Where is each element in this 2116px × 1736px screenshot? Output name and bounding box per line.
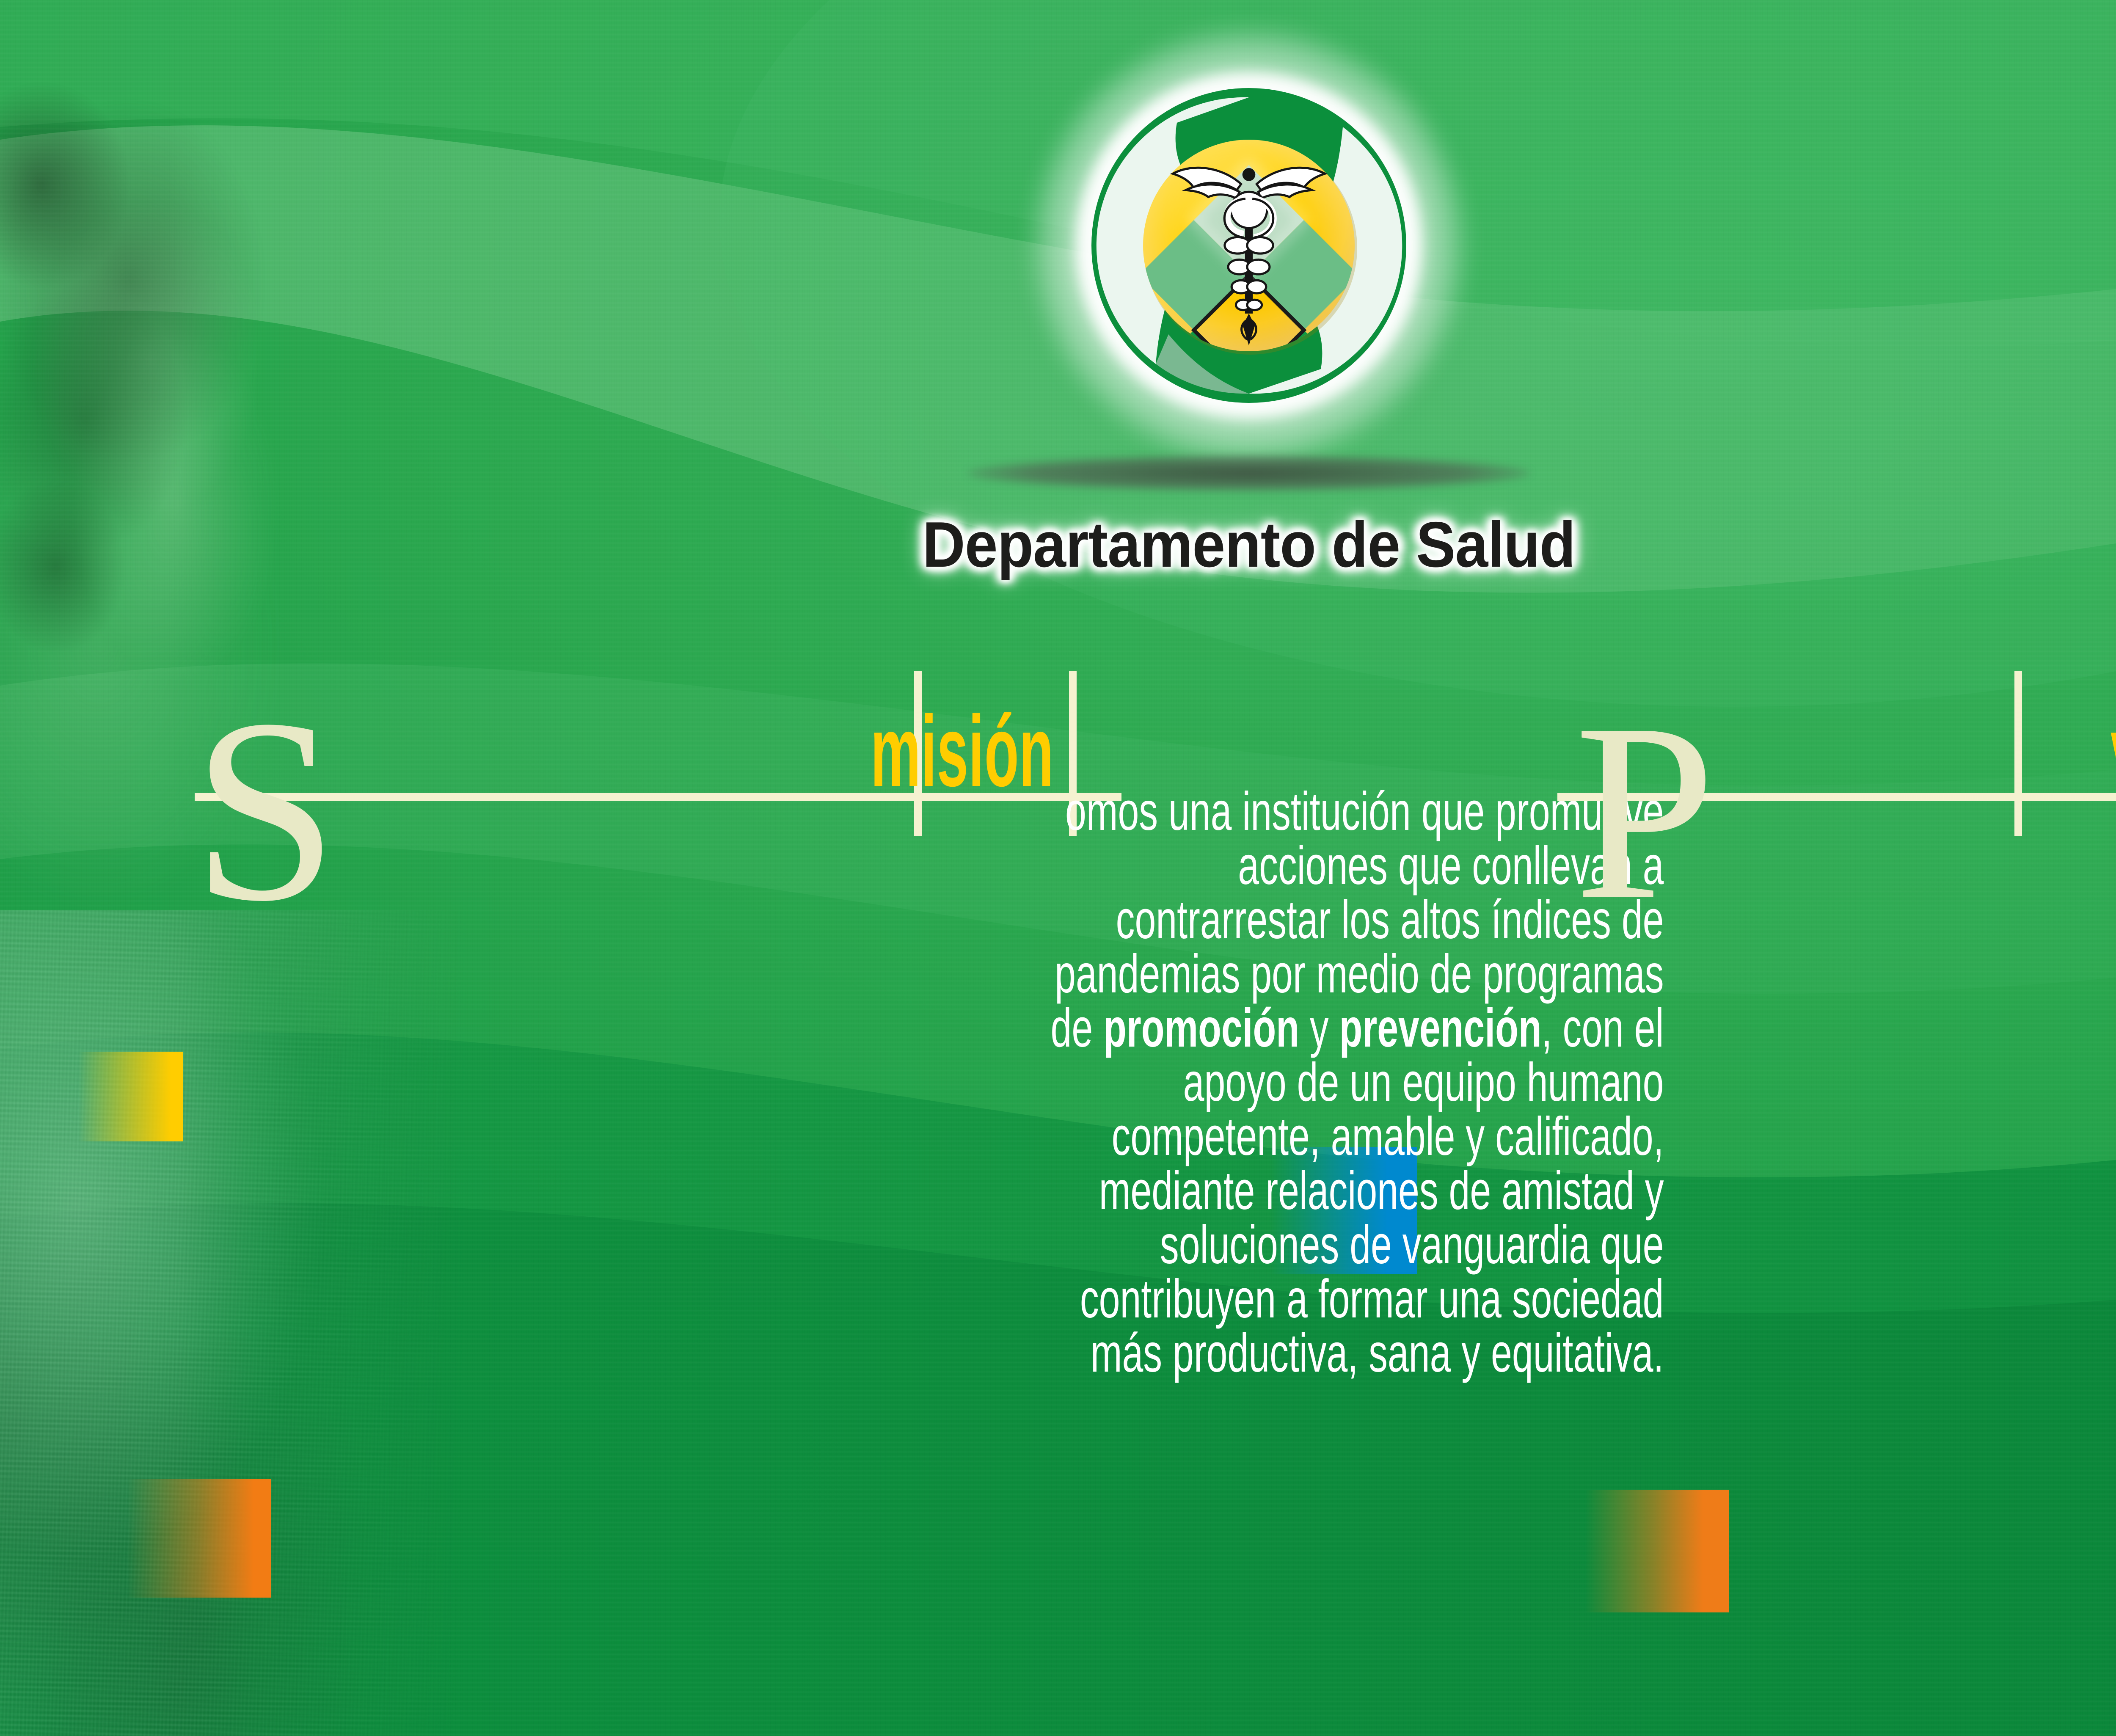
logo-icon [1029, 25, 1469, 466]
text-line: educación, formación y asesoría, [1759, 839, 2116, 893]
organization-title: Departamento de Salud [100, 508, 2116, 582]
vision-kicker: visión [2111, 709, 2116, 794]
vision-body-text: osicionarnos como líderes eneducación, f… [1759, 785, 2116, 1218]
vision-dropcap: P [1574, 715, 1716, 908]
text-line: más productiva, sana y equitativa. [606, 1326, 1664, 1381]
caduceus-diamond-logo [1029, 25, 1469, 466]
text-line: de acuerdo a las necesidades de la [1759, 947, 2116, 1001]
vision-column: visión osicionarnos como líderes eneduca… [1320, 652, 2116, 1218]
logo-drop-shadow [967, 455, 1530, 491]
text-line: confiabilidad, ética y sentido social, [1759, 1055, 2116, 1110]
mision-dropcap: S [192, 711, 338, 910]
text-line: a través de programas de [1759, 1110, 2116, 1164]
text-line: ajustándonos a los modelos de salud [1759, 893, 2116, 947]
mision-kicker: misión [871, 709, 1054, 794]
text-line: contribuyen a formar una sociedad [606, 1272, 1664, 1326]
logo-block [0, 25, 2116, 468]
text-line: promoción y prevención. [1759, 1164, 2116, 1218]
text-line: osicionarnos como líderes en [1759, 785, 2116, 839]
text-line: comunidad, basados en la [1759, 1001, 2116, 1055]
text-line: soluciones de vanguardia que [606, 1218, 1664, 1272]
